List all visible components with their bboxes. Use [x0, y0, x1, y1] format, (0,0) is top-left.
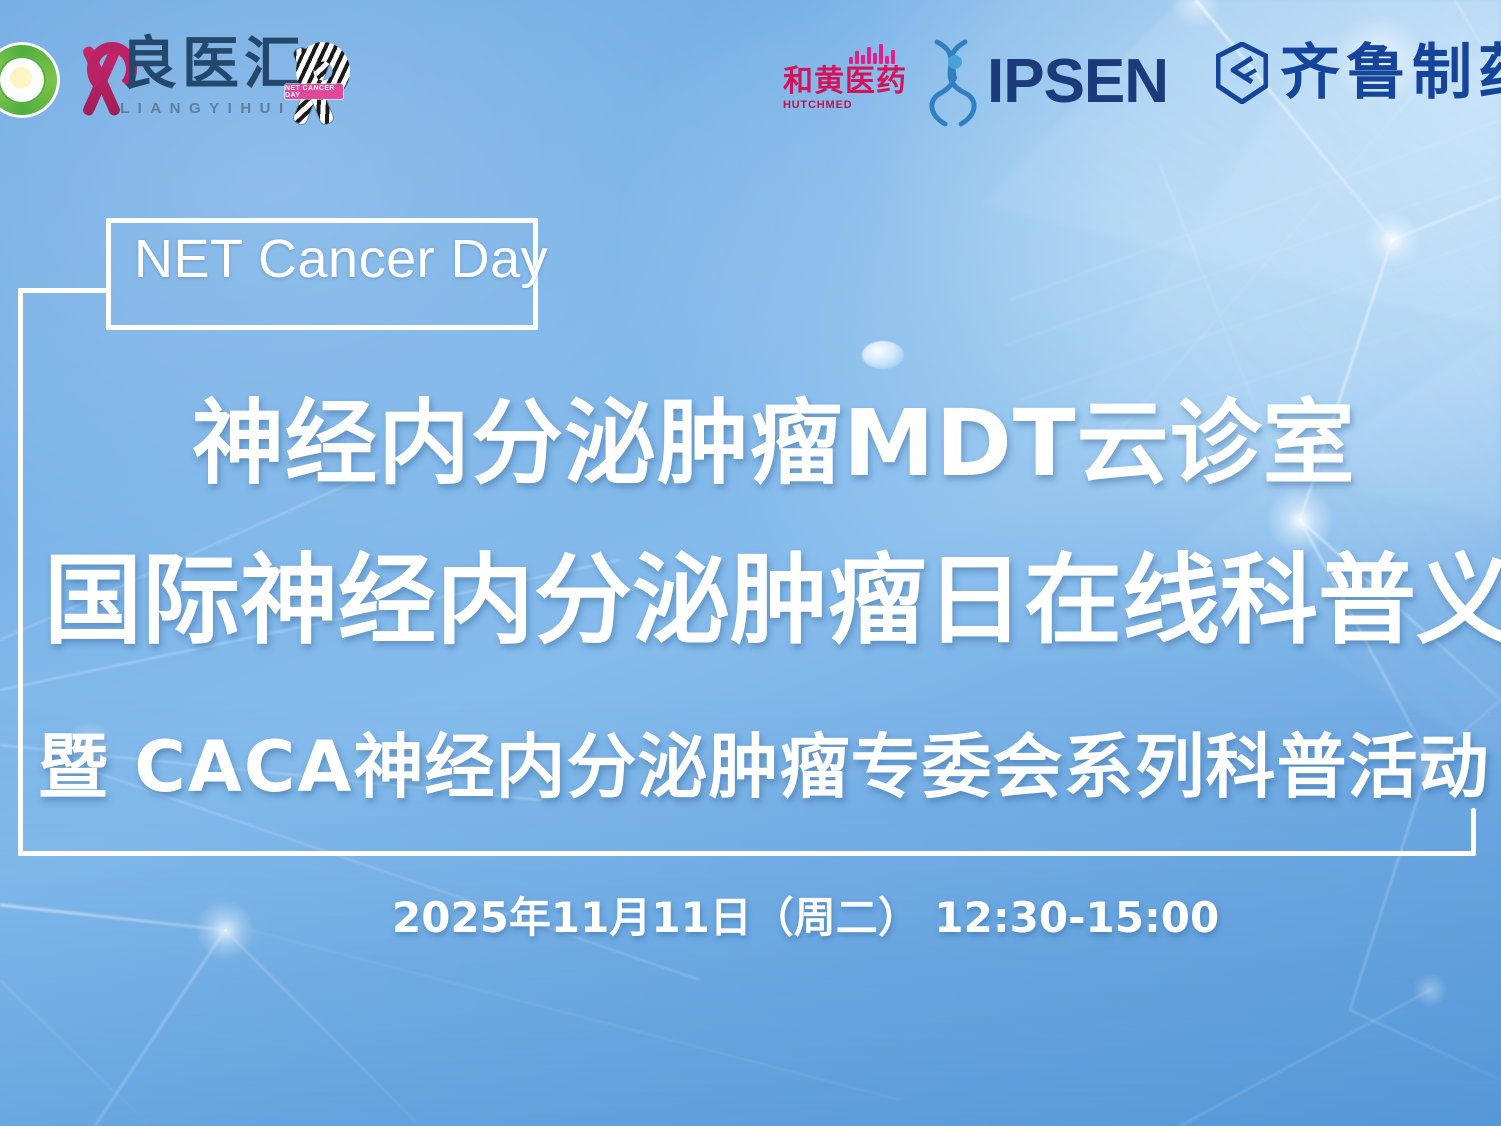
qilu-cn-text: 齐鲁制药	[1280, 43, 1501, 103]
title-line-2: 国际神经内分泌肿瘤日在线科普义诊	[44, 552, 1501, 650]
hutchmed-cn-text: 和黄医药	[783, 66, 923, 98]
node-glow-icon	[1299, 519, 1302, 522]
ipsen-helix-icon	[925, 36, 981, 128]
qilu-shield-icon	[1216, 42, 1268, 104]
frame-left-border	[18, 288, 23, 856]
frame-bottom-right-corner	[1471, 808, 1476, 856]
ipsen-wordmark: IPSEN	[987, 51, 1168, 113]
qilu-pharma-logo: 齐鲁制药	[1216, 42, 1501, 104]
hutchmed-en-text: HUTCHMED	[783, 99, 923, 111]
hutchmed-bars-icon	[849, 44, 923, 64]
liangyihui-logo: 良医汇 LIANGYIHUI	[120, 36, 306, 117]
title-line-3-prefix: 暨	[38, 726, 109, 808]
badge-bottom-border	[106, 325, 538, 330]
zebra-ribbon-tag: NET CANCER DAY	[285, 84, 343, 99]
title-line-1: 神经内分泌肿瘤MDT云诊室	[192, 398, 1356, 490]
sponsor-logo-bar: 医 良医汇 LIANGYIHUI NET CANCER DAY 和黄医药 HUT…	[0, 0, 1501, 150]
title-line-3-suffix: 神经内分泌肿瘤专委会系列科普活动	[353, 726, 1489, 808]
net-cancer-day-badge: NET Cancer Day	[106, 218, 538, 330]
title-line-3-en: CACA	[134, 726, 353, 808]
zebra-ribbon-icon: NET CANCER DAY	[283, 40, 343, 130]
title-line-3: 暨 CACA神经内分泌肿瘤专委会系列科普活动	[38, 732, 1489, 802]
event-datetime: 2025年11月11日（周二） 12:30-15:00	[392, 897, 1219, 939]
seal-mark-glyph: 医	[0, 72, 60, 96]
net-cancer-day-label: NET Cancer Day	[134, 232, 548, 286]
badge-left-border	[106, 218, 111, 330]
liangyihui-cn-text: 良医汇	[120, 36, 306, 93]
frame-top-stub	[18, 288, 108, 293]
node-glow-icon	[1391, 239, 1394, 242]
badge-top-border	[106, 218, 538, 223]
liangyihui-en-text: LIANGYIHUI	[120, 100, 306, 117]
poster-canvas: 医 良医汇 LIANGYIHUI NET CANCER DAY 和黄医药 HUT…	[0, 0, 1501, 1126]
frame-bottom-border	[18, 851, 1476, 856]
hutchmed-logo: 和黄医药 HUTCHMED	[783, 44, 923, 111]
caca-green-seal-logo: 医	[0, 42, 60, 118]
lens-flare-ellipse	[862, 341, 904, 369]
ipsen-logo: IPSEN	[925, 36, 1168, 128]
